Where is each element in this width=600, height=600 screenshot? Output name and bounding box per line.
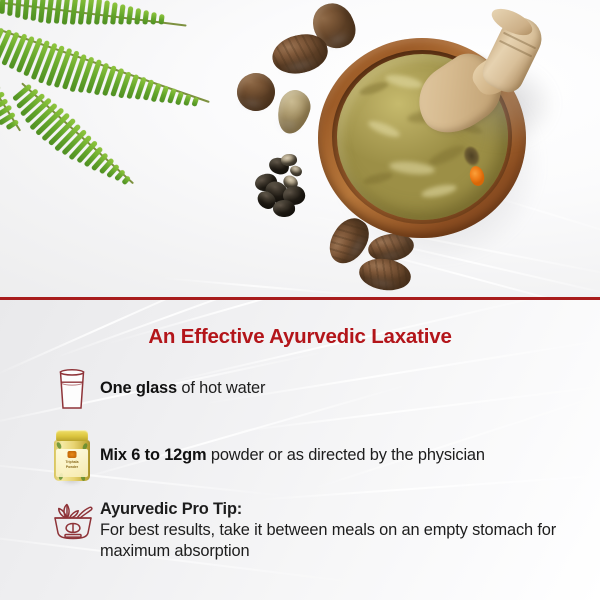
instruction-text-dosage: Mix 6 to 12gm powder or as directed by t…: [100, 428, 485, 466]
water-glass-icon-wrap: [44, 362, 100, 418]
jar-label-line2: Powder: [56, 465, 88, 469]
jar-label-line1: Triphala: [56, 460, 88, 464]
instruction-text-water: One glass of hot water: [100, 362, 265, 399]
mortar-and-pestle-icon: [50, 499, 96, 545]
dried-amla-cluster: [253, 152, 319, 222]
instruction-bold-water: One glass: [100, 379, 177, 397]
instruction-text-protip: Ayurvedic Pro Tip: For best results, tak…: [100, 495, 600, 562]
instruction-rest-dosage: powder or as directed by the physician: [206, 446, 484, 464]
amla-leaves: [0, 0, 236, 197]
instruction-row-dosage: Triphala Powder Mix 6 to 12gm powder or …: [44, 428, 485, 484]
instruction-row-water: One glass of hot water: [44, 362, 265, 418]
wooden-scoop: [416, 10, 596, 170]
section-title: An Effective Ayurvedic Laxative: [0, 325, 600, 349]
protip-body: For best results, take it between meals …: [100, 521, 556, 560]
mortar-and-pestle-icon-wrap: [44, 495, 100, 551]
infographic-canvas: An Effective Ayurvedic Laxative One glas…: [0, 0, 600, 600]
dried-fruit-haritaki: [273, 87, 315, 138]
jar-body: Triphala Powder: [54, 440, 90, 481]
triphala-powder-jar-icon-wrap: Triphala Powder: [44, 428, 100, 484]
protip-heading: Ayurvedic Pro Tip:: [100, 499, 600, 520]
water-glass-icon: [56, 369, 88, 411]
studio-sweep-line: [160, 277, 369, 297]
instruction-row-protip: Ayurvedic Pro Tip: For best results, tak…: [44, 495, 600, 562]
triphala-hero-photo: [0, 0, 600, 299]
triphala-powder-jar-icon: Triphala Powder: [53, 430, 91, 482]
jar-label: Triphala Powder: [56, 449, 88, 477]
instruction-bold-dosage: Mix 6 to 12gm: [100, 446, 206, 464]
jar-lid: [56, 430, 88, 441]
brand-logo-icon: [68, 451, 77, 458]
bg-swoosh-line: [221, 384, 600, 435]
instruction-rest-water: of hot water: [177, 379, 265, 397]
dried-fruit-bibhitaki: [234, 70, 278, 114]
